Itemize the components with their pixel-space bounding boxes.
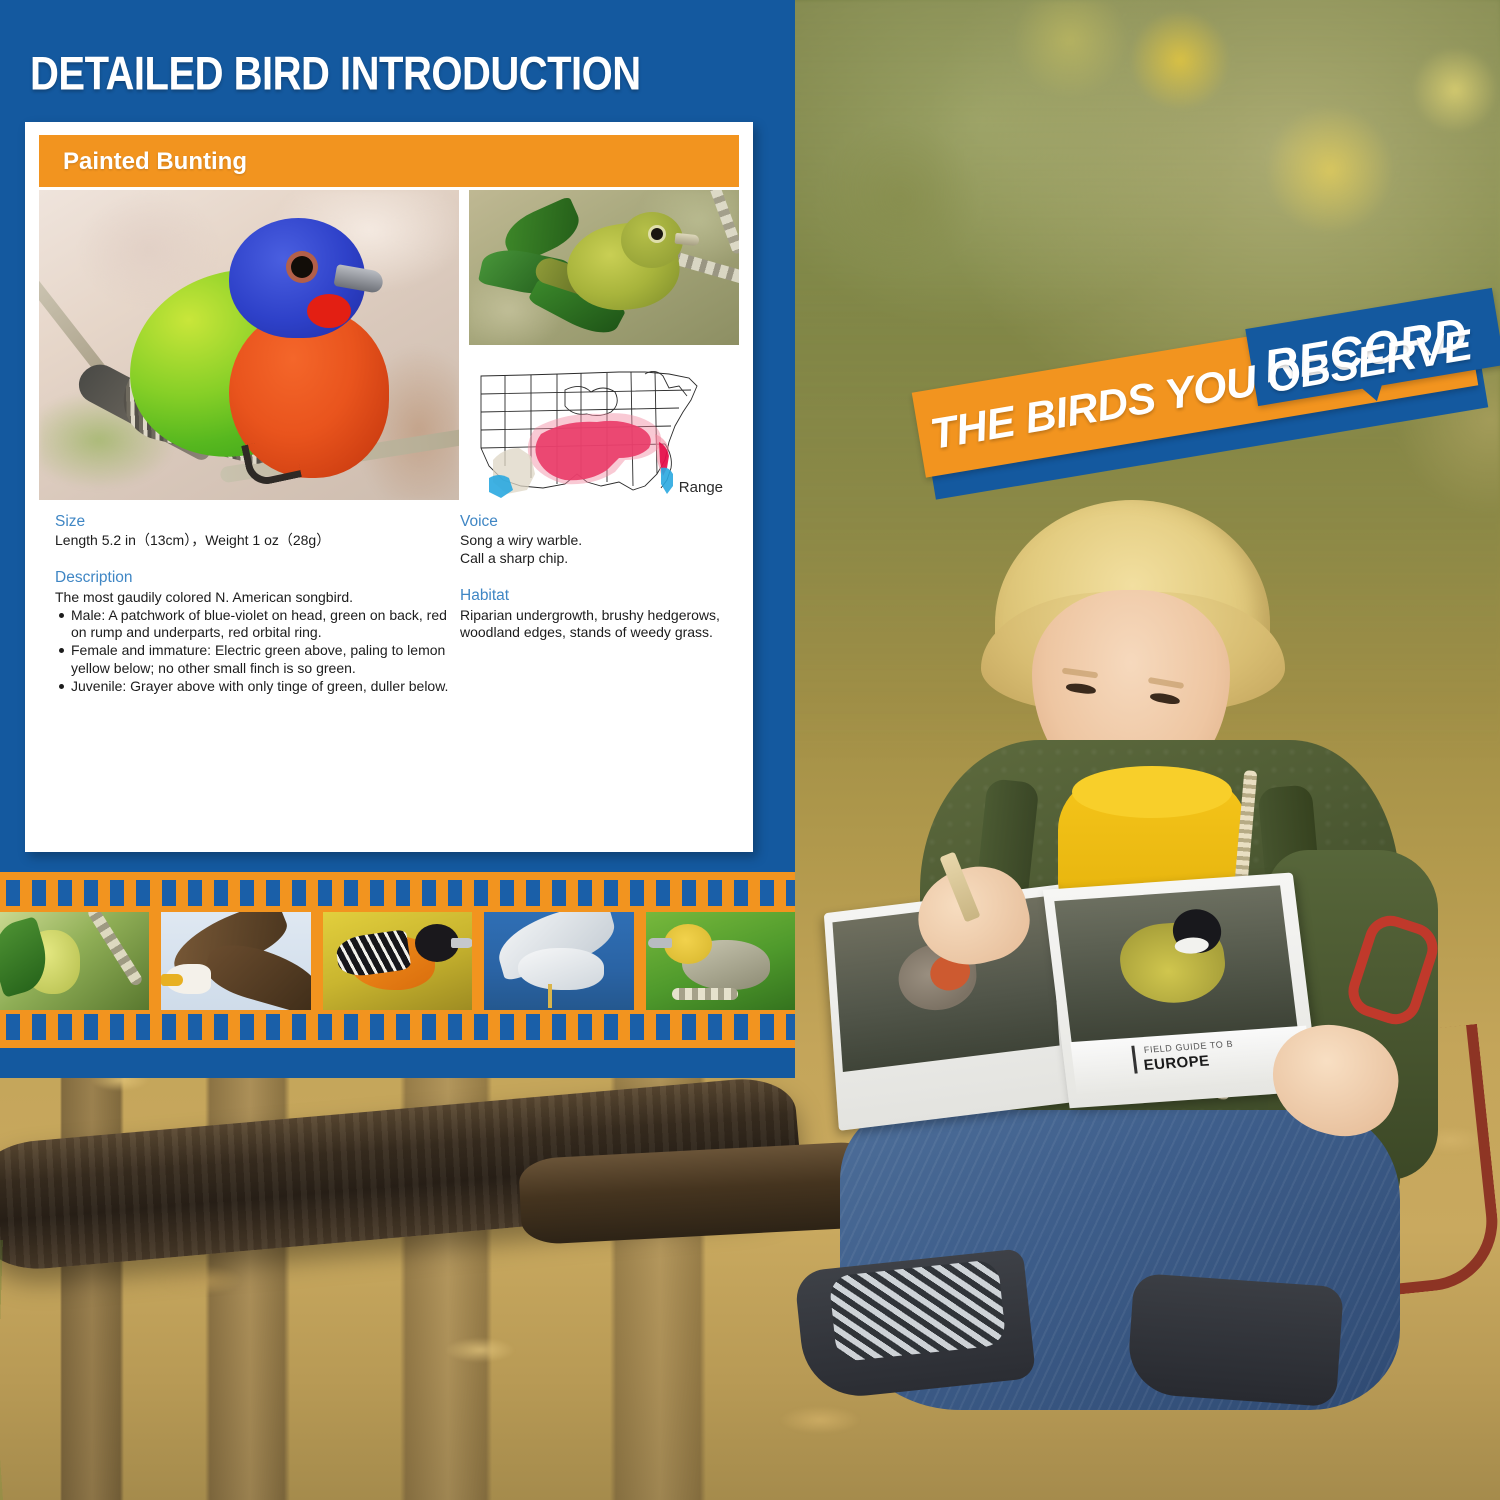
male-painted-bunting-photo [39, 190, 459, 500]
book-photo-great-tit [1054, 885, 1298, 1052]
great-tit-illustration [1116, 920, 1230, 1007]
bird-filmstrip [0, 872, 795, 1048]
female-head [621, 212, 683, 268]
voice-block: Voice Song a wiry warble. Call a sharp c… [460, 512, 745, 568]
boy-shirt-collar [1072, 766, 1232, 818]
book-caption-bar [1131, 1046, 1137, 1074]
filmstrip-frame-baltimore-oriole [323, 912, 472, 1010]
filmstrip-frame-gull [484, 912, 633, 1010]
species-card: Painted Bunting [25, 122, 753, 852]
page-title: DETAILED BIRD INTRODUCTION [30, 48, 641, 101]
bunting-red-throat [307, 294, 351, 328]
description-bullet: Juvenile: Grayer above with only tinge o… [71, 678, 455, 696]
female-painted-bunting-photo [469, 190, 739, 345]
range-map-label: Range [679, 479, 723, 496]
poster-stage: FIELD GUIDE TO B EUROPE RECORD THE BIRDS… [0, 0, 1500, 1500]
voice-heading: Voice [460, 512, 745, 531]
detail-column-left: Size Length 5.2 in（13cm），Weight 1 oz（28g… [55, 512, 455, 714]
filmstrip-frames [0, 912, 795, 1010]
size-block: Size Length 5.2 in（13cm），Weight 1 oz（28g… [55, 512, 455, 550]
species-media-row: Range [39, 190, 739, 500]
description-heading: Description [55, 568, 455, 587]
filmstrip-sprocket-holes-bottom [0, 1014, 795, 1040]
boy-reading-figure: FIELD GUIDE TO B EUROPE [800, 470, 1500, 1390]
description-bullet: Male: A patchwork of blue-violet on head… [71, 607, 455, 643]
boy-boot-right [1126, 1273, 1344, 1407]
book-caption-small: FIELD GUIDE TO B [1143, 1039, 1233, 1055]
field-guide-book: FIELD GUIDE TO B EUROPE [818, 846, 1322, 1145]
species-name: Painted Bunting [63, 148, 247, 176]
description-intro: The most gaudily colored N. American son… [55, 589, 455, 607]
habitat-heading: Habitat [460, 586, 745, 605]
size-text: Length 5.2 in（13cm），Weight 1 oz（28g） [55, 532, 455, 550]
detail-column-right: Voice Song a wiry warble. Call a sharp c… [460, 512, 745, 660]
female-eye [651, 228, 663, 240]
bunting-eye [291, 256, 313, 278]
habitat-block: Habitat Riparian undergrowth, brushy hed… [460, 586, 745, 642]
description-block: Description The most gaudily colored N. … [55, 568, 455, 696]
blue-info-panel: DETAILED BIRD INTRODUCTION Painted Bunti… [0, 0, 795, 1078]
filmstrip-frame-orchard-oriole [646, 912, 795, 1010]
habitat-text: Riparian undergrowth, brushy hedgerows, … [460, 607, 745, 643]
filmstrip-frame-bald-eagle [161, 912, 310, 1010]
boy-boot-left [794, 1248, 1036, 1401]
female-beak [674, 233, 699, 246]
species-card-header: Painted Bunting [39, 135, 739, 187]
description-bullet-list: Male: A patchwork of blue-violet on head… [55, 607, 455, 697]
filmstrip-sprocket-holes-top [0, 880, 795, 906]
description-bullet: Female and immature: Electric green abov… [71, 642, 455, 678]
range-map: Range [469, 356, 739, 500]
book-caption-large: EUROPE [1143, 1052, 1211, 1073]
voice-line-2: Call a sharp chip. [460, 550, 745, 568]
record-observe-banner: RECORD THE BIRDS YOU OBSERVE [905, 300, 1500, 530]
size-heading: Size [55, 512, 455, 531]
filmstrip-frame-female-bunting [0, 912, 149, 1010]
voice-line-1: Song a wiry warble. [460, 532, 745, 550]
